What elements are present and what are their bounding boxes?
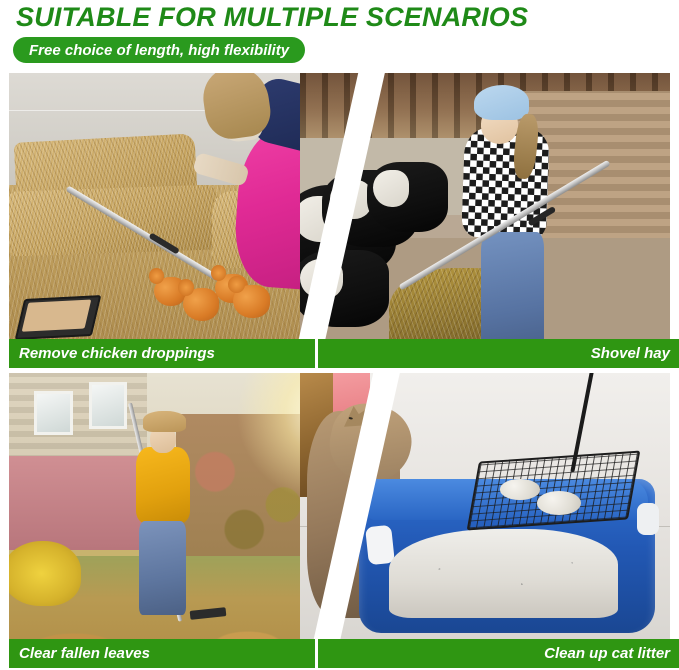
scenario-row-bottom: Clear fallen leaves Clean up cat litter	[0, 373, 679, 668]
scenario-row-top: Remove chicken droppings Shovel hay	[0, 73, 679, 368]
wire-scoop-basket	[467, 450, 641, 530]
litter-clump	[537, 491, 581, 515]
chicken	[183, 288, 219, 320]
feature-badge: Free choice of length, high flexibility	[13, 37, 305, 63]
caption-shovel-hay: Shovel hay	[318, 339, 679, 368]
rake-head	[15, 295, 102, 340]
page-margin-right	[670, 73, 679, 368]
litter-box-handle	[637, 503, 659, 535]
farmer-blue-headscarf	[474, 85, 530, 120]
litter-box-handle	[365, 525, 395, 566]
caption-clean-up-cat-litter: Clean up cat litter	[318, 639, 679, 668]
caption-label: Shovel hay	[591, 345, 670, 362]
promo-page: SUITABLE FOR MULTIPLE SCENARIOS Free cho…	[0, 0, 679, 670]
dairy-cow	[367, 162, 448, 233]
caption-label: Clear fallen leaves	[19, 645, 150, 662]
caption-label: Clean up cat litter	[544, 645, 670, 662]
person-jeans	[139, 521, 186, 615]
litter-clump	[500, 479, 541, 500]
page-title: SUITABLE FOR MULTIPLE SCENARIOS	[16, 2, 528, 33]
person-straw-hat	[143, 411, 186, 432]
page-margin-right	[670, 373, 679, 668]
cat-litter-sand	[389, 529, 618, 618]
feature-badge-label: Free choice of length, high flexibility	[29, 42, 289, 59]
caption-label: Remove chicken droppings	[19, 345, 215, 362]
caption-clear-fallen-leaves: Clear fallen leaves	[9, 639, 315, 668]
page-margin-left	[0, 373, 9, 668]
page-margin-left	[0, 73, 9, 368]
house-window	[34, 391, 73, 435]
chicken	[233, 285, 269, 317]
house-window	[89, 382, 128, 429]
person-yellow-hoodie	[136, 447, 190, 524]
yellow-shrub	[9, 541, 81, 606]
caption-remove-chicken-droppings: Remove chicken droppings	[9, 339, 315, 368]
scenario-grid: Remove chicken droppings Shovel hay	[0, 73, 679, 670]
